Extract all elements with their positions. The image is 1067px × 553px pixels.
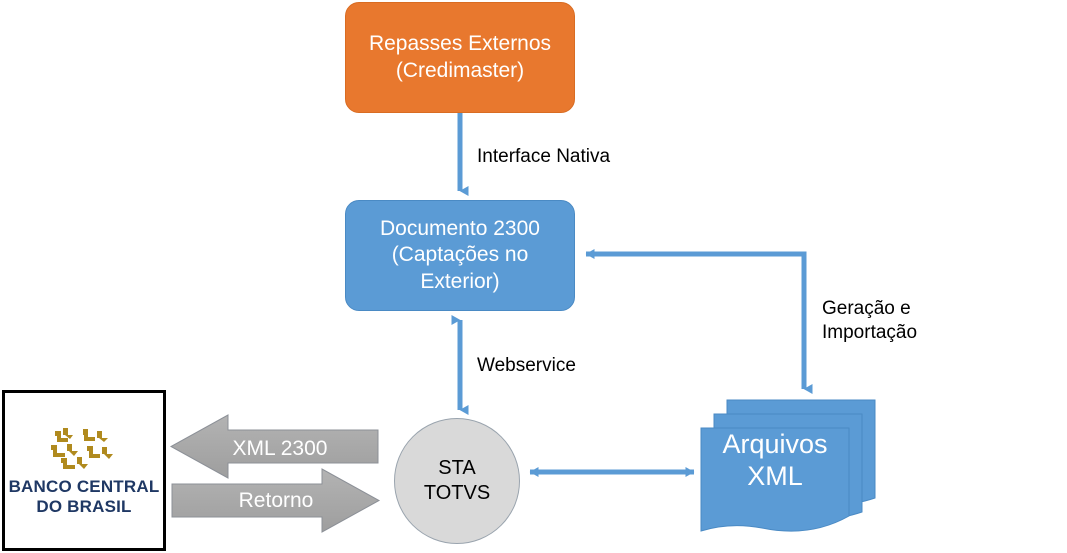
node-arquivos-xml[interactable]: Arquivos XML [700,398,888,538]
node-repasses-externos[interactable]: Repasses Externos (Credimaster) [345,2,575,113]
node-documento-2300-label: Documento 2300 (Captações no Exterior) [372,216,548,295]
diagram-canvas: Repasses Externos (Credimaster) Document… [0,0,1067,553]
connector-label-interface-nativa: Interface Nativa [477,145,610,169]
node-banco-central-brasil-label: BANCO CENTRAL DO BRASIL [9,477,160,515]
stacked-documents-icon [700,398,888,538]
node-repasses-externos-label: Repasses Externos (Credimaster) [361,31,559,84]
connector-xml-to-documento [586,254,804,389]
node-documento-2300[interactable]: Documento 2300 (Captações no Exterior) [345,200,575,311]
block-arrow-retorno [172,469,379,532]
block-arrow-label-xml-2300: XML 2300 [200,437,360,461]
block-arrow-label-retorno: Retorno [196,489,356,513]
block-arrow-xml-2300 [171,415,378,478]
connector-label-geracao-importacao: Geração e Importação [822,297,917,345]
connector-label-webservice: Webservice [477,354,576,378]
node-banco-central-brasil[interactable]: BANCO CENTRAL DO BRASIL [2,390,166,551]
node-sta-totvs[interactable]: STA TOTVS [394,418,520,544]
bacen-logo-icon [47,425,121,473]
node-sta-totvs-label: STA TOTVS [416,456,498,506]
